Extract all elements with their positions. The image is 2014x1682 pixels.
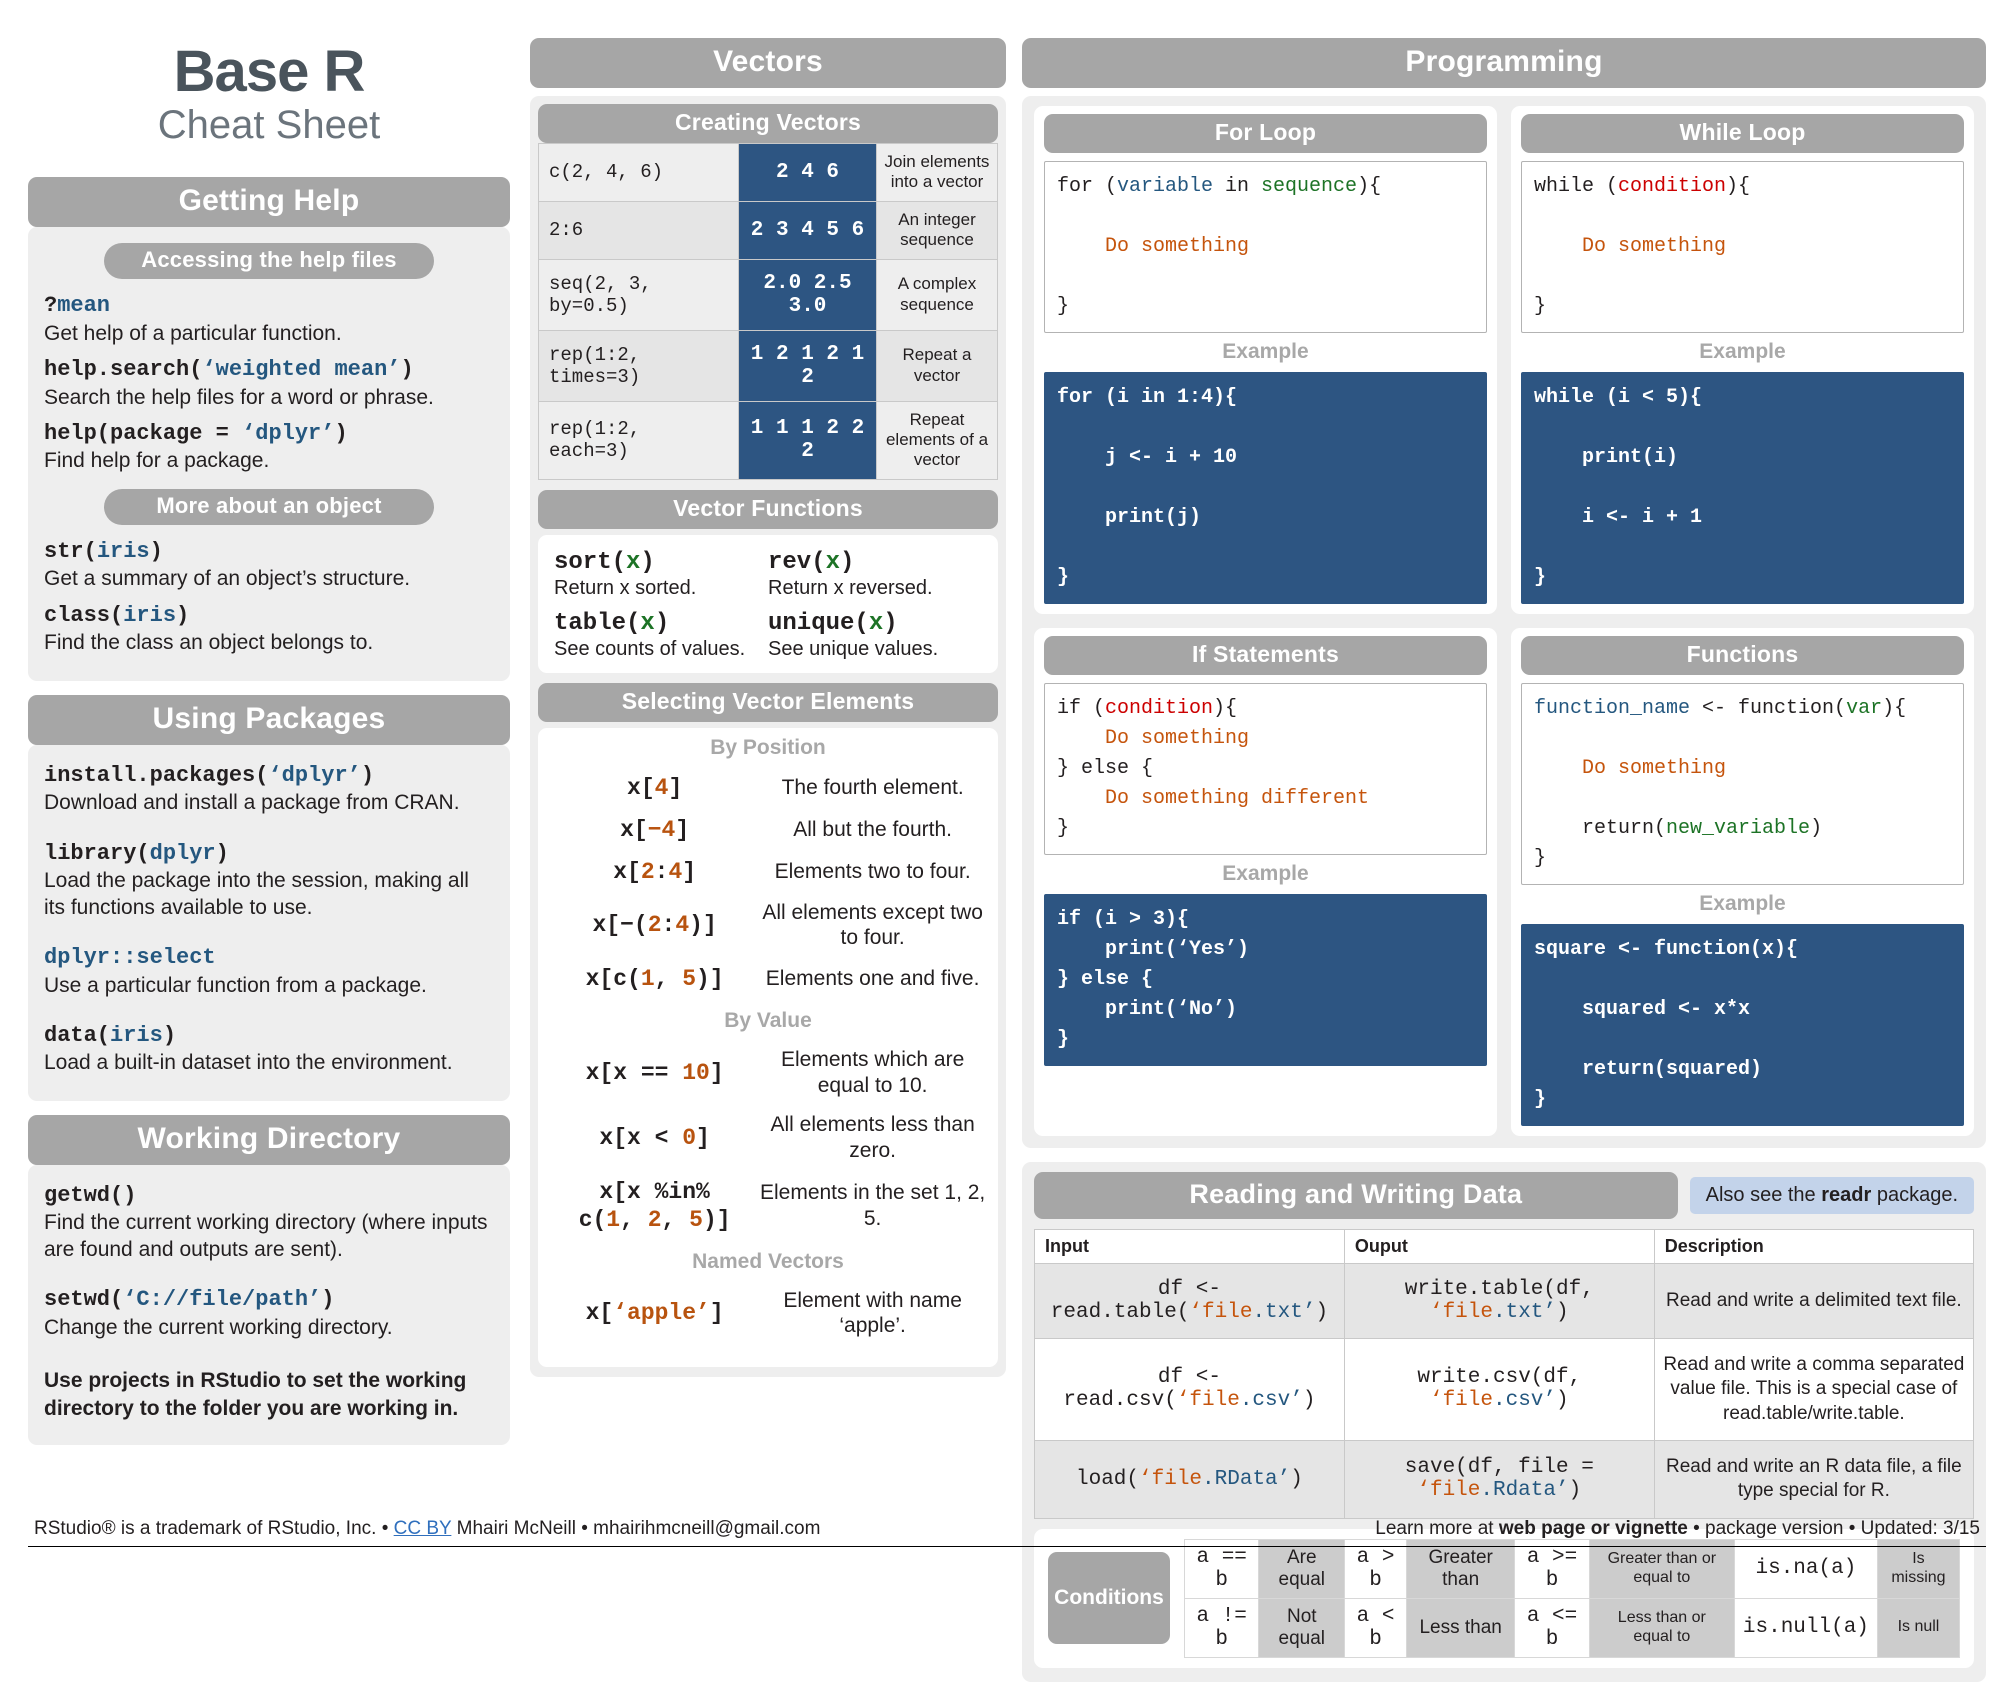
vector-output: 2.0 2.5 3.0 <box>739 259 877 330</box>
vector-input: seq(2, 3, by=0.5) <box>539 259 739 330</box>
rw-description: Read and write a comma separated value f… <box>1654 1339 1973 1441</box>
code-suffix: ) <box>321 1287 334 1312</box>
table-row: rep(1:2, times=3) 1 2 1 2 1 2 Repeat a v… <box>539 330 998 401</box>
rw-input: df <- read.csv(‘file.csv’) <box>1035 1339 1345 1441</box>
for-loop-template: for (variable in sequence){ Do something… <box>1044 161 1487 333</box>
using-packages-heading: Using Packages <box>28 695 510 745</box>
code-prefix: install.packages( <box>44 763 268 788</box>
cheatsheet-page: Base R Cheat Sheet Getting Help Accessin… <box>0 0 2014 1562</box>
vf-suffix: ) <box>883 610 897 637</box>
page-title: Base R Cheat Sheet <box>28 28 510 177</box>
vector-input: 2:6 <box>539 201 739 259</box>
table-row: a == b Are equal a > b Greater than a >=… <box>1185 1539 1960 1598</box>
code-prefix: getwd() <box>44 1183 136 1208</box>
programming-row-1: For Loop for (variable in sequence){ Do … <box>1034 106 1974 614</box>
sel-desc: All elements less than zero. <box>759 1112 986 1163</box>
list-item: x[x < 0] All elements less than zero. <box>550 1112 986 1163</box>
vectors-panel: Creating Vectors c(2, 4, 6) 2 4 6 Join e… <box>530 96 1006 1377</box>
code-arg: iris <box>123 603 176 628</box>
creating-vectors-table: c(2, 4, 6) 2 4 6 Join elements into a ve… <box>538 143 998 480</box>
example-label: Example <box>1521 892 1964 916</box>
left-column: Base R Cheat Sheet Getting Help Accessin… <box>28 28 510 1459</box>
table-row: load(‘file.RData’) save(df, file = ‘file… <box>1035 1440 1974 1518</box>
more-about-object-subheading: More about an object <box>104 489 434 525</box>
vector-functions-heading: Vector Functions <box>538 490 998 529</box>
wd-item: setwd(‘C://file/path’) Change the curren… <box>44 1285 494 1341</box>
sel-desc: All but the fourth. <box>759 817 986 843</box>
vector-output: 2 3 4 5 6 <box>739 201 877 259</box>
title-sub: Cheat Sheet <box>28 101 510 149</box>
condition-text: Greater than or equal to <box>1589 1539 1734 1598</box>
for-loop-card: For Loop for (variable in sequence){ Do … <box>1034 106 1497 614</box>
reading-writing-heading: Reading and Writing Data <box>1034 1172 1678 1219</box>
by-value-label: By Value <box>550 1009 986 1033</box>
list-item: x[x[4]4] The fourth element. <box>550 774 986 802</box>
sel-desc: Elements one and five. <box>759 966 986 992</box>
table-row: c(2, 4, 6) 2 4 6 Join elements into a ve… <box>539 144 998 202</box>
help-item: str(iris) Get a summary of an object’s s… <box>44 537 494 593</box>
help-item: class(iris) Find the class an object bel… <box>44 601 494 657</box>
vf-prefix: sort( <box>554 549 626 576</box>
package-item-desc: Load the package into the session, makin… <box>44 868 494 921</box>
readr-note-pre: Also see the <box>1706 1184 1822 1206</box>
code-prefix: help(package = <box>44 421 242 446</box>
list-item: x[x %in%c(1, 2, 5)] Elements in the set … <box>550 1178 986 1234</box>
footer-divider <box>28 1546 1986 1547</box>
while-loop-example: while (i < 5){ print(i) i <- i + 1 } <box>1521 372 1964 604</box>
conditions-panel: Conditions a == b Are equal a > b Greate… <box>1034 1529 1974 1668</box>
package-item-desc: Load a built-in dataset into the environ… <box>44 1050 494 1076</box>
vector-input: c(2, 4, 6) <box>539 144 739 202</box>
getting-help-heading: Getting Help <box>28 177 510 227</box>
readr-note-bold: readr <box>1821 1184 1871 1206</box>
vf-desc: Return x reversed. <box>768 577 982 600</box>
code-arg: ‘C://file/path’ <box>123 1287 321 1312</box>
col-description: Description <box>1654 1230 1973 1264</box>
conditions-table: a == b Are equal a > b Greater than a >=… <box>1184 1539 1960 1658</box>
code-prefix: class( <box>44 603 123 628</box>
vector-desc: Repeat elements of a vector <box>877 401 998 479</box>
wd-item: getwd() Find the current working directo… <box>44 1181 494 1263</box>
footer-left: RStudio® is a trademark of RStudio, Inc.… <box>34 1518 820 1540</box>
col-input: Input <box>1035 1230 1345 1264</box>
table-row: a != b Not equal a < b Less than a <= b … <box>1185 1598 1960 1657</box>
vector-input: rep(1:2, times=3) <box>539 330 739 401</box>
code-prefix: data( <box>44 1023 110 1048</box>
sel-desc: Element with name ‘apple’. <box>759 1288 986 1339</box>
sel-desc: Elements in the set 1, 2, 5. <box>759 1180 986 1231</box>
working-directory-heading: Working Directory <box>28 1115 510 1165</box>
wd-item-desc: Change the current working directory. <box>44 1315 494 1341</box>
for-loop-title: For Loop <box>1044 114 1487 153</box>
readr-note-post: package. <box>1871 1184 1958 1206</box>
functions-card: Functions function_name <- function(var)… <box>1511 628 1974 1136</box>
readr-note: Also see the readr package. <box>1690 1177 1974 1214</box>
vf-arg: x <box>640 610 654 637</box>
by-position-label: By Position <box>550 736 986 760</box>
if-statements-example: if (i > 3){ print(‘Yes’) } else { print(… <box>1044 894 1487 1066</box>
vector-output: 1 2 1 2 1 2 <box>739 330 877 401</box>
selecting-vector-elements-heading: Selecting Vector Elements <box>538 683 998 722</box>
condition-text: Not equal <box>1259 1598 1345 1657</box>
table-row: rep(1:2, each=3) 1 1 1 2 2 2 Repeat elem… <box>539 401 998 479</box>
package-item: library(dplyr) Load the package into the… <box>44 839 494 921</box>
vf-arg: x <box>869 610 883 637</box>
condition-text: Are equal <box>1259 1539 1345 1598</box>
page-footer: RStudio® is a trademark of RStudio, Inc.… <box>0 1512 2014 1547</box>
help-item-desc: Search the help files for a word or phra… <box>44 385 494 411</box>
list-item: x[−4] All but the fourth. <box>550 816 986 844</box>
code-suffix: ) <box>361 763 374 788</box>
list-item: x[−(2:4)] All elements except two to fou… <box>550 900 986 951</box>
code-arg: ‘weighted mean’ <box>202 357 400 382</box>
condition-op: is.na(a) <box>1734 1539 1877 1598</box>
section-getting-help: Getting Help Accessing the help files ?m… <box>28 177 510 681</box>
vf-desc: See counts of values. <box>554 638 768 661</box>
conditions-label: Conditions <box>1048 1552 1170 1644</box>
code-arg: ‘dplyr’ <box>242 421 334 446</box>
help-item-desc: Get a summary of an object’s structure. <box>44 566 494 592</box>
condition-op: a != b <box>1185 1598 1259 1657</box>
rw-description: Read and write a delimited text file. <box>1654 1264 1973 1339</box>
while-loop-card: While Loop while (condition){ Do somethi… <box>1511 106 1974 614</box>
package-item-desc: Use a particular function from a package… <box>44 973 494 999</box>
package-item: install.packages(‘dplyr’) Download and i… <box>44 761 494 817</box>
footer-left-a: RStudio® is a trademark of RStudio, Inc.… <box>34 1518 394 1539</box>
sel-desc: Elements which are equal to 10. <box>759 1047 986 1098</box>
vector-functions-right: rev(x) Return x reversed. unique(x) See … <box>768 549 982 661</box>
title-main: Base R <box>28 42 510 101</box>
vectors-column: Vectors Creating Vectors c(2, 4, 6) 2 4 … <box>530 38 1006 1377</box>
code-arg: dplyr <box>150 841 216 866</box>
help-item-desc: Find the class an object belongs to. <box>44 630 494 656</box>
help-item: help(package = ‘dplyr’) Find help for a … <box>44 419 494 475</box>
table-row: 2:6 2 3 4 5 6 An integer sequence <box>539 201 998 259</box>
list-item: x[c(1, 5)] Elements one and five. <box>550 965 986 993</box>
condition-op: a < b <box>1345 1598 1407 1657</box>
package-item-desc: Download and install a package from CRAN… <box>44 790 494 816</box>
section-using-packages: Using Packages install.packages(‘dplyr’)… <box>28 695 510 1101</box>
functions-template: function_name <- function(var){ Do somet… <box>1521 683 1964 885</box>
programming-panel: For Loop for (variable in sequence){ Do … <box>1022 96 1986 1148</box>
code-suffix: ) <box>400 357 413 382</box>
table-row: df <- read.table(‘file.txt’) write.table… <box>1035 1264 1974 1339</box>
code-suffix: ) <box>176 603 189 628</box>
vf-arg: x <box>626 549 640 576</box>
condition-op: a >= b <box>1515 1539 1589 1598</box>
code-prefix: library( <box>44 841 150 866</box>
code-arg: ‘dplyr’ <box>268 763 360 788</box>
condition-text: Greater than <box>1406 1539 1514 1598</box>
condition-op: a == b <box>1185 1539 1259 1598</box>
rw-output: write.table(df, ‘file.txt’) <box>1344 1264 1654 1339</box>
vf-suffix: ) <box>840 549 854 576</box>
reading-writing-panel: Reading and Writing Data Also see the re… <box>1022 1162 1986 1682</box>
condition-op: a <= b <box>1515 1598 1589 1657</box>
while-loop-template: while (condition){ Do something } <box>1521 161 1964 333</box>
vf-desc: See unique values. <box>768 638 982 661</box>
code-arg: mean <box>57 293 110 318</box>
condition-op: a > b <box>1345 1539 1407 1598</box>
footer-right: Learn more at web page or vignette • pac… <box>1375 1518 1980 1540</box>
list-item: x[2:4] Elements two to four. <box>550 858 986 886</box>
vf-prefix: rev( <box>768 549 826 576</box>
package-item: data(iris) Load a built-in dataset into … <box>44 1021 494 1077</box>
help-item-desc: Get help of a particular function. <box>44 321 494 347</box>
code-suffix: ) <box>150 539 163 564</box>
if-statements-template: if (condition){ Do something } else { Do… <box>1044 683 1487 855</box>
working-directory-body: getwd() Find the current working directo… <box>28 1165 510 1445</box>
vector-desc: Repeat a vector <box>877 330 998 401</box>
using-packages-body: install.packages(‘dplyr’) Download and i… <box>28 745 510 1101</box>
vf-desc: Return x sorted. <box>554 577 768 600</box>
selecting-vector-elements-body: By Position x[x[4]4] The fourth element.… <box>538 728 998 1367</box>
table-header-row: Input Ouput Description <box>1035 1230 1974 1264</box>
code-prefix: ? <box>44 293 57 318</box>
working-directory-note: Use projects in RStudio to set the worki… <box>44 1367 494 1422</box>
code-suffix: ) <box>334 421 347 446</box>
footer-right-a: Learn more at <box>1375 1518 1499 1539</box>
creating-vectors-heading: Creating Vectors <box>538 104 998 143</box>
functions-title: Functions <box>1521 636 1964 675</box>
vf-prefix: table( <box>554 610 640 637</box>
condition-op: is.null(a) <box>1734 1598 1877 1657</box>
vectors-heading: Vectors <box>530 38 1006 88</box>
getting-help-body: Accessing the help files ?mean Get help … <box>28 227 510 681</box>
help-item: help.search(‘weighted mean’) Search the … <box>44 355 494 411</box>
reading-writing-table: Input Ouput Description df <- read.table… <box>1034 1229 1974 1519</box>
cc-by-link[interactable]: CC BY <box>394 1518 452 1539</box>
vector-functions-left: sort(x) Return x sorted. table(x) See co… <box>554 549 768 661</box>
section-working-directory: Working Directory getwd() Find the curre… <box>28 1115 510 1445</box>
wd-item-desc: Find the current working directory (wher… <box>44 1210 494 1263</box>
while-loop-title: While Loop <box>1521 114 1964 153</box>
accessing-help-files-subheading: Accessing the help files <box>104 243 434 279</box>
code-arg: iris <box>110 1023 163 1048</box>
rw-input: load(‘file.RData’) <box>1035 1440 1345 1518</box>
right-column: Programming For Loop for (variable in se… <box>1022 38 1986 1682</box>
help-item-desc: Find help for a package. <box>44 448 494 474</box>
rw-description: Read and write an R data file, a file ty… <box>1654 1440 1973 1518</box>
vector-desc: An integer sequence <box>877 201 998 259</box>
list-item: x[x == 10] Elements which are equal to 1… <box>550 1047 986 1098</box>
vector-input: rep(1:2, each=3) <box>539 401 739 479</box>
code-suffix: ) <box>216 841 229 866</box>
web-page-link[interactable]: web page or vignette <box>1499 1518 1688 1539</box>
vector-desc: A complex sequence <box>877 259 998 330</box>
condition-text: Is missing <box>1877 1539 1959 1598</box>
if-statements-card: If Statements if (condition){ Do somethi… <box>1034 628 1497 1136</box>
vector-desc: Join elements into a vector <box>877 144 998 202</box>
help-item: ?mean Get help of a particular function. <box>44 291 494 347</box>
vf-suffix: ) <box>655 610 669 637</box>
code-prefix: str( <box>44 539 97 564</box>
example-label: Example <box>1044 340 1487 364</box>
vector-output: 1 1 1 2 2 2 <box>739 401 877 479</box>
code-suffix: ) <box>163 1023 176 1048</box>
programming-heading: Programming <box>1022 38 1986 88</box>
package-item: dplyr::select Use a particular function … <box>44 943 494 999</box>
vf-prefix: unique( <box>768 610 869 637</box>
if-statements-title: If Statements <box>1044 636 1487 675</box>
sel-desc: The fourth element. <box>759 775 986 801</box>
rw-output: write.csv(df, ‘file.csv’) <box>1344 1339 1654 1441</box>
example-label: Example <box>1044 862 1487 886</box>
programming-row-2: If Statements if (condition){ Do somethi… <box>1034 628 1974 1136</box>
code-prefix: setwd( <box>44 1287 123 1312</box>
footer-right-b: • package version • Updated: 3/15 <box>1688 1518 1980 1539</box>
vf-arg: x <box>826 549 840 576</box>
list-item: x[‘apple’] Element with name ‘apple’. <box>550 1288 986 1339</box>
col-output: Ouput <box>1344 1230 1654 1264</box>
vf-suffix: ) <box>640 549 654 576</box>
vector-output: 2 4 6 <box>739 144 877 202</box>
for-loop-example: for (i in 1:4){ j <- i + 10 print(j) } <box>1044 372 1487 604</box>
reading-writing-header: Reading and Writing Data Also see the re… <box>1034 1172 1974 1219</box>
table-row: seq(2, 3, by=0.5) 2.0 2.5 3.0 A complex … <box>539 259 998 330</box>
footer-left-b: Mhairi McNeill • mhairihmcneill@gmail.co… <box>451 1518 820 1539</box>
condition-text: Is null <box>1877 1598 1959 1657</box>
table-row: df <- read.csv(‘file.csv’) write.csv(df,… <box>1035 1339 1974 1441</box>
sel-desc: All elements except two to four. <box>759 900 986 951</box>
code-prefix: help.search( <box>44 357 202 382</box>
condition-text: Less than <box>1406 1598 1514 1657</box>
named-vectors-label: Named Vectors <box>550 1250 986 1274</box>
rw-input: df <- read.table(‘file.txt’) <box>1035 1264 1345 1339</box>
functions-example: square <- function(x){ squared <- x*x re… <box>1521 924 1964 1126</box>
rw-output: save(df, file = ‘file.Rdata’) <box>1344 1440 1654 1518</box>
example-label: Example <box>1521 340 1964 364</box>
vector-functions-body: sort(x) Return x sorted. table(x) See co… <box>538 535 998 673</box>
code-arg: iris <box>97 539 150 564</box>
code-arg: dplyr::select <box>44 945 216 970</box>
condition-text: Less than or equal to <box>1589 1598 1734 1657</box>
sel-desc: Elements two to four. <box>759 859 986 885</box>
